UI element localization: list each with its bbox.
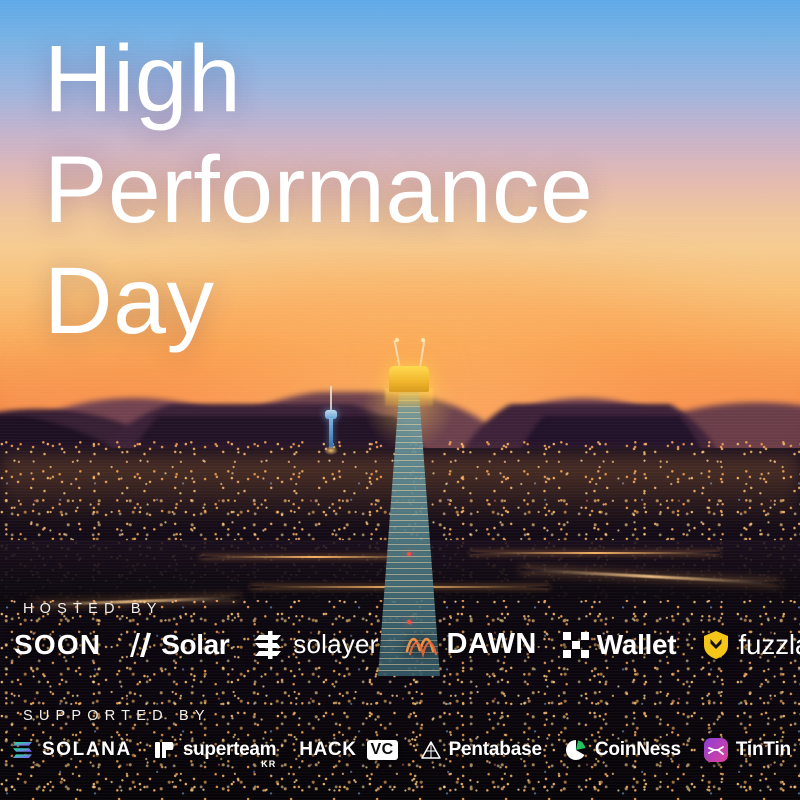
logo-solayer-label: solayer — [293, 629, 378, 660]
title-line-2: Performance — [44, 135, 704, 246]
event-poster: High Performance Day HOSTED BY SOON Sola… — [0, 0, 800, 800]
superteam-logo-icon — [155, 740, 175, 760]
hosted-by-logo-row: SOON Solar solayer — [14, 628, 800, 661]
logo-hackvc-vc-badge: VC — [367, 740, 398, 760]
bridge — [470, 552, 720, 554]
logo-soon-label: SOON — [14, 629, 101, 661]
logo-superteam-region: KR — [261, 759, 276, 769]
logo-coinness-label: CoinNess — [595, 739, 681, 761]
logo-solana[interactable]: SOLANA — [12, 739, 132, 761]
logo-pentabase[interactable]: Pentabase — [421, 739, 542, 761]
page-title: High Performance Day — [44, 24, 704, 357]
logo-tintin[interactable]: TinTin — [704, 738, 791, 762]
supported-by-label: SUPPORTED BY — [23, 708, 211, 724]
tower-mast — [330, 386, 332, 412]
logo-dawn[interactable]: DAWN — [405, 628, 537, 661]
tower-aviation-light — [407, 552, 411, 556]
solayer-logo-icon — [255, 631, 285, 659]
title-line-3: Day — [44, 246, 704, 357]
logo-solar-label: Solar — [161, 629, 229, 661]
dawn-logo-icon — [405, 632, 439, 658]
logo-fuzzland-label: fuzzland — [738, 629, 800, 661]
logo-solayer[interactable]: solayer — [255, 629, 378, 660]
logo-hackvc[interactable]: HACK VC — [299, 739, 397, 761]
title-line-1: High — [44, 24, 704, 135]
logo-solana-label: SOLANA — [42, 739, 132, 761]
logo-solar[interactable]: Solar — [127, 629, 229, 661]
tower-shaft — [329, 418, 333, 448]
n-seoul-tower — [322, 386, 340, 456]
pentabase-pyramid-icon — [421, 740, 441, 760]
logo-fuzzland[interactable]: fuzzland — [702, 629, 800, 661]
logo-coinness[interactable]: CoinNess — [565, 739, 681, 761]
logo-superteam[interactable]: superteam KR — [155, 739, 276, 761]
logo-hackvc-label: HACK — [299, 739, 356, 761]
logo-pentabase-label: Pentabase — [449, 739, 542, 761]
tower-base-glow — [324, 446, 338, 455]
wallet-logo-icon — [563, 632, 589, 658]
logo-dawn-label: DAWN — [447, 628, 537, 661]
fuzzland-shield-icon — [702, 630, 730, 660]
logo-wallet[interactable]: Wallet — [563, 629, 677, 661]
tower-crown — [389, 366, 429, 392]
hosted-by-label: HOSTED BY — [23, 601, 163, 617]
logo-soon[interactable]: SOON — [14, 629, 101, 661]
logo-tintin-label: TinTin — [736, 739, 791, 761]
solana-logo-icon — [12, 740, 34, 760]
tower-aviation-light — [407, 620, 411, 624]
tintin-logo-icon — [704, 738, 728, 762]
logo-superteam-label: superteam — [183, 739, 276, 761]
supported-by-logo-row: SOLANA superteam KR HACK VC P — [12, 738, 791, 762]
logo-wallet-label: Wallet — [597, 629, 677, 661]
solar-logo-icon — [127, 631, 153, 659]
coinness-logo-icon — [565, 739, 587, 761]
